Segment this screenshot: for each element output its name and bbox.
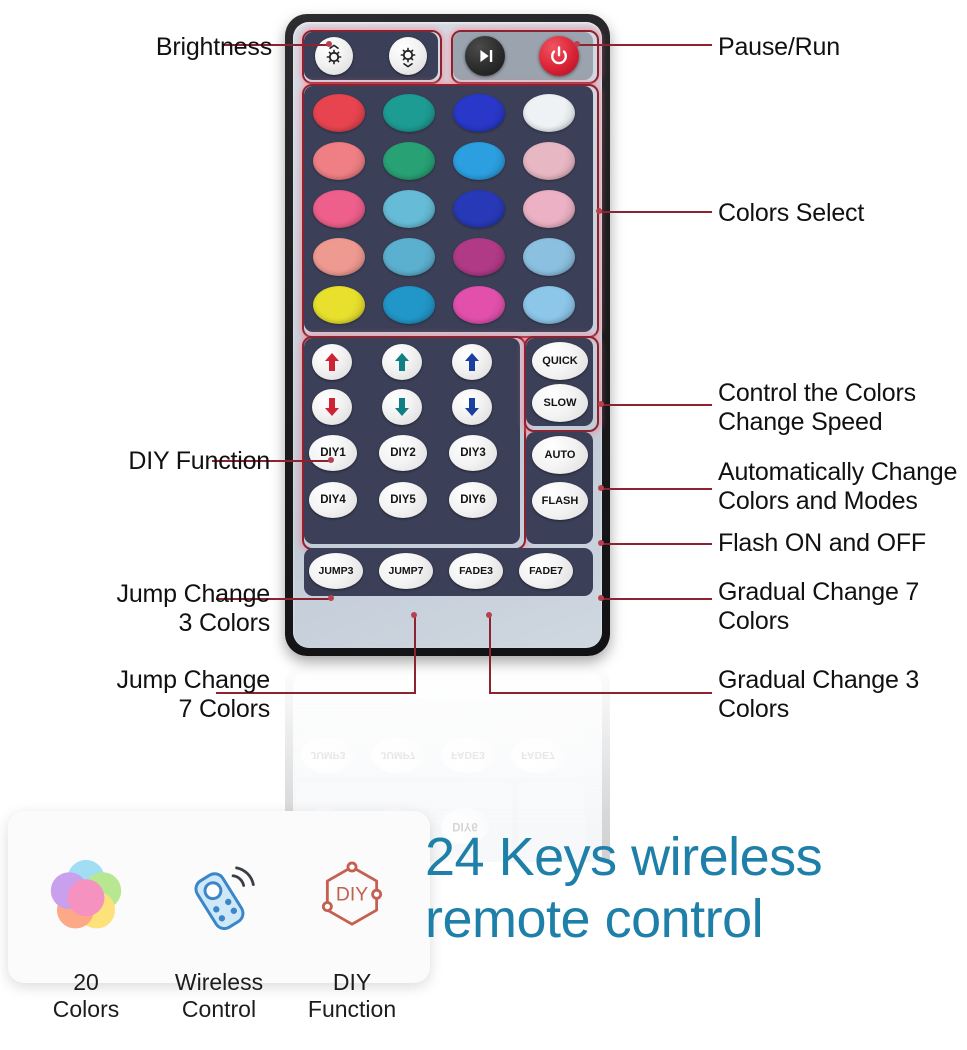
feature-card: 20 Colors (8, 811, 430, 983)
color-swatch-2[interactable] (383, 94, 435, 132)
callout-brightness: Brightness (62, 33, 272, 62)
brightness-down-button[interactable] (389, 37, 427, 75)
power-icon (548, 45, 570, 67)
leader-line-gradual3-v (489, 614, 491, 694)
color-swatch-5[interactable] (313, 142, 365, 180)
diy6-button[interactable]: DIY6 (449, 482, 497, 518)
callout-jump-change-3: Jump Change 3 Colors (28, 580, 270, 638)
leader-line-auto (600, 488, 712, 490)
leader-line-jump7-v (414, 614, 416, 694)
arrow-down-icon (392, 396, 412, 418)
auto-button[interactable]: AUTO (532, 436, 588, 474)
leader-dot-jump3 (328, 595, 334, 601)
remote-control-device: DIY1DIY2DIY3DIY4DIY5DIY6 QUICK SLOW AUTO… (285, 14, 610, 656)
wireless-feature: Wireless Control (155, 823, 283, 1050)
red-up-button[interactable] (312, 344, 352, 380)
fade7-button[interactable]: FADE7 (519, 553, 573, 589)
reflection-jump3: JUMP3 (301, 737, 355, 773)
green-up-button[interactable] (382, 344, 422, 380)
callout-flash-on-off: Flash ON and OFF (718, 529, 964, 558)
flash-button[interactable]: FLASH (532, 482, 588, 520)
diy-hexagon-icon: DIY (288, 850, 416, 942)
red-down-button[interactable] (312, 389, 352, 425)
leader-dot-auto (598, 485, 604, 491)
green-down-button[interactable] (382, 389, 422, 425)
color-swatch-10[interactable] (383, 190, 435, 228)
color-swatch-15[interactable] (453, 238, 505, 276)
leader-dot-colors-select (596, 208, 602, 214)
callout-colors-select: Colors Select (718, 199, 964, 228)
color-swatch-8[interactable] (523, 142, 575, 180)
leader-line-pause-run (576, 44, 712, 46)
jump7-button[interactable]: JUMP7 (379, 553, 433, 589)
leader-line-colors-select (598, 211, 712, 213)
color-swatch-18[interactable] (383, 286, 435, 324)
diy-feature-label: DIY Function (288, 969, 416, 1023)
headline: 24 Keys wireless remote control (425, 826, 965, 950)
diy2-button[interactable]: DIY2 (379, 435, 427, 471)
color-swatch-1[interactable] (313, 94, 365, 132)
leader-dot-flash (598, 540, 604, 546)
leader-dot-diy (328, 457, 334, 463)
colors-feature-label: 20 Colors (22, 969, 150, 1023)
leader-dot-speed (598, 401, 604, 407)
callout-gradual-change-7: Gradual Change 7 Colors (718, 578, 967, 636)
color-swatch-20[interactable] (523, 286, 575, 324)
arrow-down-icon (462, 396, 482, 418)
play-pause-button[interactable] (465, 36, 505, 76)
color-swatch-13[interactable] (313, 238, 365, 276)
sun-minus-icon (396, 44, 420, 68)
leader-dot-gradual3 (486, 612, 492, 618)
callout-pause-run: Pause/Run (718, 33, 964, 62)
blue-down-button[interactable] (452, 389, 492, 425)
wireless-feature-label: Wireless Control (155, 969, 283, 1023)
quick-button[interactable]: QUICK (532, 342, 588, 380)
diy3-button[interactable]: DIY3 (449, 435, 497, 471)
color-swatch-19[interactable] (453, 286, 505, 324)
diy4-button[interactable]: DIY4 (309, 482, 357, 518)
product-infographic: DIY1DIY2DIY3DIY4DIY5DIY6 QUICK SLOW AUTO… (0, 0, 967, 1000)
color-swatch-14[interactable] (383, 238, 435, 276)
blue-up-button[interactable] (452, 344, 492, 380)
callout-gradual-change-3: Gradual Change 3 Colors (718, 666, 967, 724)
sun-plus-icon (322, 44, 346, 68)
callout-diy-function: DIY Function (55, 447, 270, 476)
leader-dot-pause-run (574, 41, 580, 47)
colors-feature: 20 Colors (22, 823, 150, 1050)
color-wheel-icon (22, 850, 150, 942)
arrow-down-icon (322, 396, 342, 418)
reflection-jump7: JUMP7 (371, 737, 425, 773)
leader-line-flash (600, 543, 712, 545)
diy5-button[interactable]: DIY5 (379, 482, 427, 518)
arrow-up-icon (462, 351, 482, 373)
color-swatch-11[interactable] (453, 190, 505, 228)
diy1-button[interactable]: DIY1 (309, 435, 357, 471)
power-button[interactable] (539, 36, 579, 76)
color-swatch-16[interactable] (523, 238, 575, 276)
remote-faceplate: DIY1DIY2DIY3DIY4DIY5DIY6 QUICK SLOW AUTO… (293, 22, 602, 648)
color-swatch-7[interactable] (453, 142, 505, 180)
arrow-up-icon (322, 351, 342, 373)
arrow-up-icon (392, 351, 412, 373)
color-swatch-6[interactable] (383, 142, 435, 180)
callout-jump-change-7: Jump Change 7 Colors (28, 666, 270, 724)
remote-signal-icon (155, 850, 283, 942)
color-swatch-17[interactable] (313, 286, 365, 324)
slow-button[interactable]: SLOW (532, 384, 588, 422)
callout-auto-change: Automatically Change Colors and Modes (718, 458, 967, 516)
leader-dot-gradual7 (598, 595, 604, 601)
fade3-button[interactable]: FADE3 (449, 553, 503, 589)
leader-line-gradual3-h (489, 692, 712, 694)
reflection-fade7: FADE7 (511, 737, 565, 773)
reflection-fade3: FADE3 (441, 737, 495, 773)
svg-text:DIY: DIY (336, 883, 368, 905)
color-swatch-12[interactable] (523, 190, 575, 228)
color-swatch-9[interactable] (313, 190, 365, 228)
diy-feature: DIY DIY Function (288, 823, 416, 1050)
leader-dot-brightness (326, 41, 332, 47)
brightness-up-button[interactable] (315, 37, 353, 75)
callout-change-speed: Control the Colors Change Speed (718, 379, 964, 437)
leader-line-gradual7 (600, 598, 712, 600)
color-swatch-4[interactable] (523, 94, 575, 132)
color-swatch-3[interactable] (453, 94, 505, 132)
leader-line-speed (600, 404, 712, 406)
jump3-button[interactable]: JUMP3 (309, 553, 363, 589)
play-pause-icon (474, 45, 496, 67)
leader-dot-jump7 (411, 612, 417, 618)
